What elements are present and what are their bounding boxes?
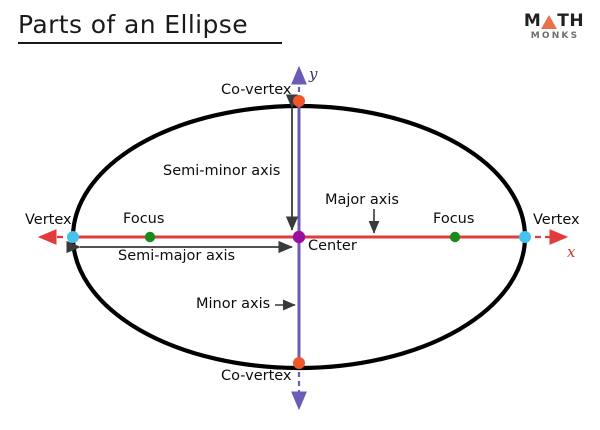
- label-y-axis: y: [309, 65, 317, 83]
- label-focus-right: Focus: [433, 211, 474, 228]
- ellipse-figure: [0, 0, 600, 430]
- ellipse-diagram-page: Parts of an Ellipse M TH MONKS: [0, 0, 600, 430]
- point-focus-left: [145, 232, 155, 242]
- label-minor-axis: Minor axis: [196, 296, 270, 313]
- point-vertex-right: [519, 231, 531, 243]
- label-semi-minor-axis: Semi-minor axis: [163, 163, 280, 180]
- point-focus-right: [450, 232, 460, 242]
- point-vertex-left: [67, 231, 79, 243]
- label-x-axis: x: [567, 243, 575, 261]
- label-center: Center: [308, 238, 357, 255]
- label-covertex-top: Co-vertex: [221, 82, 292, 99]
- label-vertex-right: Vertex: [533, 212, 580, 229]
- label-major-axis: Major axis: [325, 192, 399, 209]
- point-center: [293, 231, 305, 243]
- point-covertex-top: [293, 95, 305, 107]
- label-covertex-bottom: Co-vertex: [221, 368, 292, 385]
- label-semi-major-axis: Semi-major axis: [118, 248, 235, 265]
- label-vertex-left: Vertex: [25, 212, 72, 229]
- point-covertex-bottom: [293, 357, 305, 369]
- label-focus-left: Focus: [123, 211, 164, 228]
